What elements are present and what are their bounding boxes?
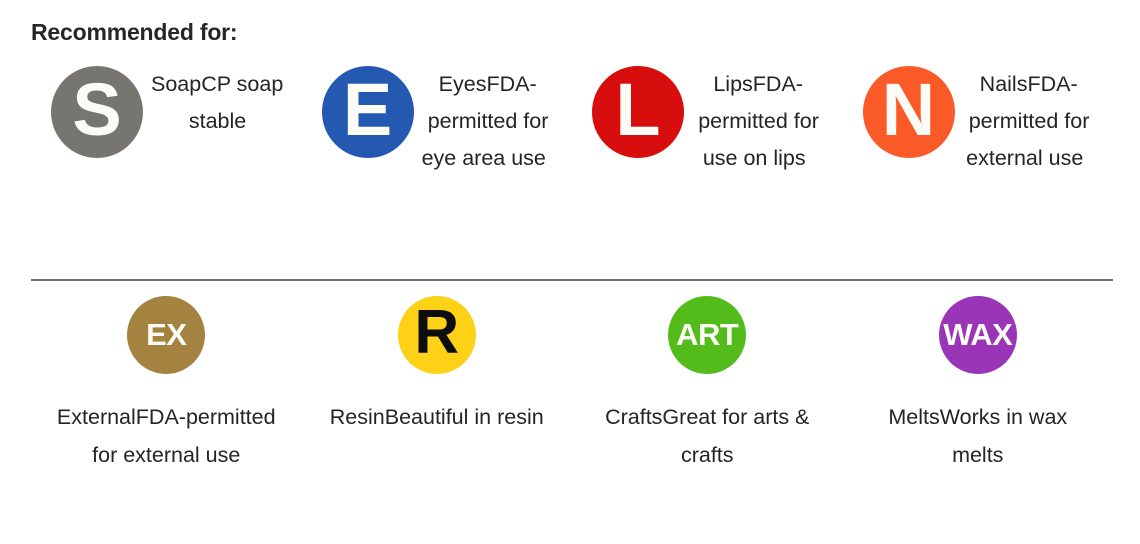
badge-glyph: E — [343, 73, 392, 147]
section-divider — [31, 279, 1113, 281]
crafts-badge-icon: ART — [668, 296, 746, 374]
recommendation-row-top: S SoapCP soap stable E EyesFDA-permitted… — [31, 66, 1113, 177]
resin-badge-icon: R — [398, 296, 476, 374]
lips-badge-icon: L — [592, 66, 684, 158]
eyes-badge-icon: E — [322, 66, 414, 158]
badge-glyph: WAX — [943, 319, 1012, 350]
soap-badge-icon: S — [51, 66, 143, 158]
recommendation-item-crafts[interactable]: ART CraftsGreat for arts & crafts — [572, 296, 843, 474]
recommendation-item-resin[interactable]: R ResinBeautiful in resin — [302, 296, 573, 436]
recommendation-caption: ResinBeautiful in resin — [302, 398, 573, 436]
recommendation-caption: ExternalFDA-permitted for external use — [31, 398, 302, 474]
recommendation-item-soap[interactable]: S SoapCP soap stable — [31, 66, 302, 158]
recommended-for-panel: Recommended for: S SoapCP soap stable E … — [0, 0, 1140, 544]
recommendation-row-bottom: EX ExternalFDA-permitted for external us… — [31, 296, 1113, 474]
badge-glyph: N — [882, 73, 935, 147]
melts-badge-icon: WAX — [939, 296, 1017, 374]
badge-glyph: EX — [146, 319, 186, 350]
recommendation-caption: CraftsGreat for arts & crafts — [572, 398, 843, 474]
badge-glyph: ART — [676, 319, 738, 350]
nails-badge-icon: N — [863, 66, 955, 158]
recommendation-item-external[interactable]: EX ExternalFDA-permitted for external us… — [31, 296, 302, 474]
recommendation-item-eyes[interactable]: E EyesFDA-permitted for eye area use — [302, 66, 573, 177]
recommendation-item-melts[interactable]: WAX MeltsWorks in wax melts — [843, 296, 1114, 474]
external-badge-icon: EX — [127, 296, 205, 374]
recommendation-item-nails[interactable]: N NailsFDA-permitted for external use — [843, 66, 1114, 177]
recommendation-caption: MeltsWorks in wax melts — [843, 398, 1114, 474]
recommendation-item-lips[interactable]: L LipsFDA-permitted for use on lips — [572, 66, 843, 177]
badge-glyph: S — [72, 73, 121, 147]
badge-glyph: R — [414, 302, 459, 364]
page-title: Recommended for: — [31, 17, 237, 47]
badge-glyph: L — [615, 73, 660, 147]
